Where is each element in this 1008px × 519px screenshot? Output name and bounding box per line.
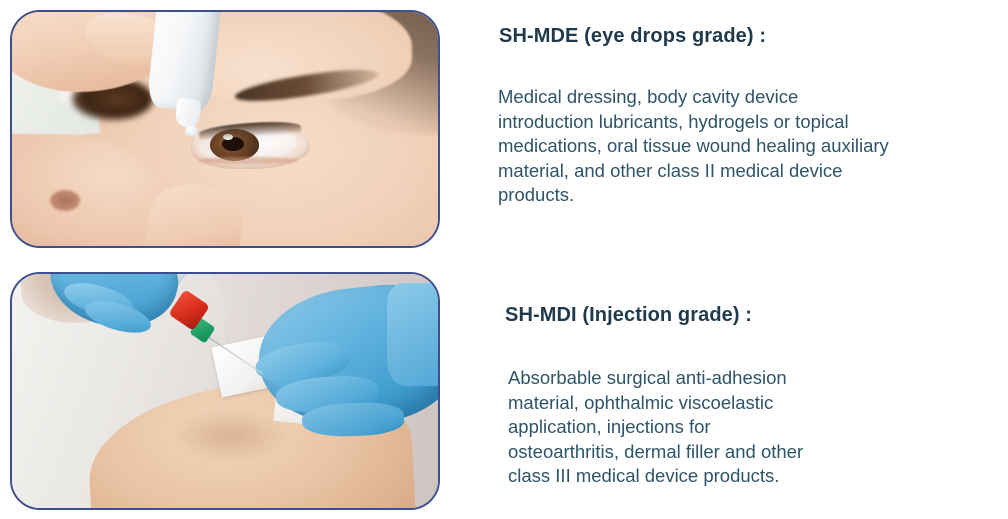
- sh-mde-body-line: introduction lubricants, hydrogels or to…: [498, 110, 1004, 135]
- sh-mde-body-line: material, and other class II medical dev…: [498, 159, 1004, 184]
- eye-drops-application-photo: [12, 12, 438, 246]
- sh-mde-heading: SH-MDE (eye drops grade) :: [499, 24, 1004, 48]
- knee-shadow: [174, 410, 285, 461]
- right-glove-wrist: [387, 283, 438, 386]
- sh-mdi-body-line: material, ophthalmic viscoelastic: [508, 391, 1005, 416]
- eye-drops-image-card: [10, 10, 440, 248]
- sh-mdi-body-line: Absorbable surgical anti-adhesion: [508, 366, 1005, 391]
- sh-mde-body: Medical dressing, body cavity device int…: [498, 85, 1004, 208]
- sh-mde-body-line: products.: [498, 183, 1004, 208]
- sh-mdi-body-line: application, injections for: [508, 415, 1005, 440]
- sh-mde-body-line: medications, oral tissue wound healing a…: [498, 134, 1004, 159]
- nostril: [50, 190, 80, 211]
- section-sh-mdi: SH-MDI (Injection grade) : Absorbable su…: [505, 303, 1005, 489]
- sh-mdi-heading: SH-MDI (Injection grade) :: [505, 303, 1005, 327]
- sh-mdi-body: Absorbable surgical anti-adhesion materi…: [508, 366, 1005, 489]
- knee-injection-photo: [12, 274, 438, 508]
- sh-mde-body-line: Medical dressing, body cavity device: [498, 85, 1004, 110]
- knee-injection-image-card: [10, 272, 440, 510]
- section-sh-mde: SH-MDE (eye drops grade) : Medical dress…: [499, 24, 1004, 208]
- eye-drop-droplet: [185, 125, 199, 136]
- product-grades-infographic: SH-MDE (eye drops grade) : Medical dress…: [0, 0, 1008, 519]
- sh-mdi-body-line: class III medical device products.: [508, 464, 1005, 489]
- sh-mdi-body-line: osteoarthritis, dermal filler and other: [508, 440, 1005, 465]
- description-column: SH-MDE (eye drops grade) : Medical dress…: [490, 0, 1008, 519]
